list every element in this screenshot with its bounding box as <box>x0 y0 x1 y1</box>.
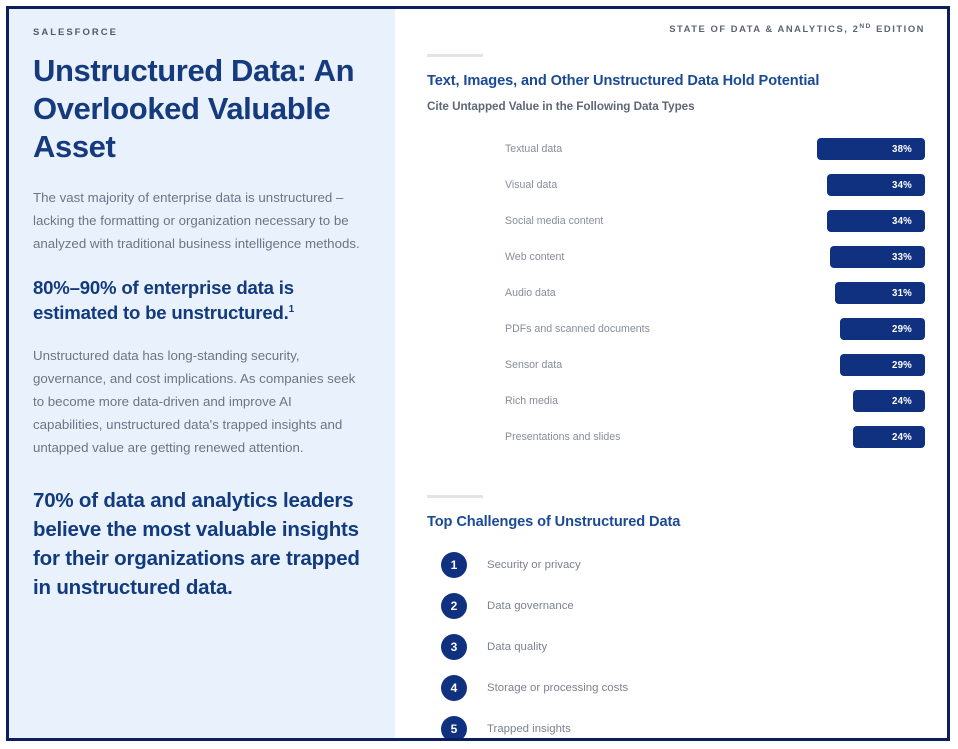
report-kicker-prefix: STATE OF DATA & ANALYTICS, 2 <box>669 23 859 34</box>
bar-value-label: 34% <box>892 216 912 227</box>
bar-track: 33% <box>669 246 925 268</box>
stat-callout-primary-text: 80%–90% of enterprise data is estimated … <box>33 277 294 323</box>
bar-chart: Textual data38%Visual data34%Social medi… <box>427 131 925 455</box>
challenge-rank-badge: 2 <box>441 593 467 619</box>
report-page: SALESFORCE Unstructured Data: An Overloo… <box>6 6 950 741</box>
chart-subtitle: Cite Untapped Value in the Following Dat… <box>427 100 925 113</box>
bar-value-label: 24% <box>892 396 912 407</box>
report-kicker-suffix: EDITION <box>872 23 925 34</box>
brand-wordmark: SALESFORCE <box>33 27 361 38</box>
bar-category-label: Web content <box>427 251 669 263</box>
challenge-rank-badge: 4 <box>441 675 467 701</box>
bar-row: Visual data34% <box>427 167 925 203</box>
bar-row: Web content33% <box>427 239 925 275</box>
bar: 38% <box>817 138 925 160</box>
challenge-label: Security or privacy <box>487 559 581 571</box>
challenge-label: Data quality <box>487 641 547 653</box>
bar-row: Sensor data29% <box>427 347 925 383</box>
bar-row: Rich media24% <box>427 383 925 419</box>
bar-track: 24% <box>669 390 925 412</box>
stat-callout-secondary: 70% of data and analytics leaders believ… <box>33 486 361 602</box>
challenges-divider-rule <box>427 495 483 498</box>
bar: 29% <box>840 354 925 376</box>
bar-value-label: 31% <box>892 288 912 299</box>
bar-row: Presentations and slides24% <box>427 419 925 455</box>
challenge-item: 1Security or privacy <box>427 544 925 585</box>
section-divider-rule <box>427 54 483 57</box>
bar-track: 29% <box>669 354 925 376</box>
bar-value-label: 38% <box>892 144 912 155</box>
footnote-marker: 1 <box>289 304 294 315</box>
challenge-label: Trapped insights <box>487 723 571 735</box>
bar-value-label: 29% <box>892 324 912 335</box>
bar-row: Social media content34% <box>427 203 925 239</box>
bar-row: PDFs and scanned documents29% <box>427 311 925 347</box>
bar-row: Audio data31% <box>427 275 925 311</box>
challenge-label: Storage or processing costs <box>487 682 628 694</box>
stat-callout-primary: 80%–90% of enterprise data is estimated … <box>33 276 361 325</box>
bar-category-label: Audio data <box>427 287 669 299</box>
bar-value-label: 29% <box>892 360 912 371</box>
bar-track: 34% <box>669 174 925 196</box>
challenge-item: 4Storage or processing costs <box>427 667 925 708</box>
challenge-label: Data governance <box>487 600 574 612</box>
challenge-rank-badge: 1 <box>441 552 467 578</box>
challenge-item: 5Trapped insights <box>427 708 925 741</box>
bar: 31% <box>835 282 925 304</box>
bar-row: Textual data38% <box>427 131 925 167</box>
right-panel: STATE OF DATA & ANALYTICS, 2ND EDITION T… <box>395 9 947 738</box>
challenge-rank-badge: 5 <box>441 716 467 742</box>
challenge-item: 2Data governance <box>427 585 925 626</box>
bar-category-label: Presentations and slides <box>427 431 669 443</box>
report-kicker: STATE OF DATA & ANALYTICS, 2ND EDITION <box>427 23 925 34</box>
bar-track: 29% <box>669 318 925 340</box>
challenges-section: Top Challenges of Unstructured Data 1Sec… <box>427 495 925 741</box>
bar-category-label: Rich media <box>427 395 669 407</box>
bar: 34% <box>827 174 925 196</box>
bar: 33% <box>830 246 925 268</box>
bar-category-label: PDFs and scanned documents <box>427 323 669 335</box>
bar: 34% <box>827 210 925 232</box>
chart-title: Text, Images, and Other Unstructured Dat… <box>427 73 925 89</box>
bar-track: 38% <box>669 138 925 160</box>
bar-value-label: 33% <box>892 252 912 263</box>
intro-paragraph: The vast majority of enterprise data is … <box>33 187 361 256</box>
bar-category-label: Textual data <box>427 143 669 155</box>
bar: 24% <box>853 390 925 412</box>
left-panel: SALESFORCE Unstructured Data: An Overloo… <box>9 9 395 738</box>
bar-category-label: Social media content <box>427 215 669 227</box>
bar-category-label: Sensor data <box>427 359 669 371</box>
challenge-item: 3Data quality <box>427 626 925 667</box>
challenges-list: 1Security or privacy2Data governance3Dat… <box>427 544 925 741</box>
bar-track: 34% <box>669 210 925 232</box>
bar-value-label: 24% <box>892 432 912 443</box>
bar-track: 24% <box>669 426 925 448</box>
secondary-paragraph: Unstructured data has long-standing secu… <box>33 345 361 459</box>
challenges-title: Top Challenges of Unstructured Data <box>427 514 925 530</box>
bar-value-label: 34% <box>892 180 912 191</box>
report-kicker-ordinal: ND <box>859 23 872 30</box>
bar: 24% <box>853 426 925 448</box>
page-title: Unstructured Data: An Overlooked Valuabl… <box>33 52 361 165</box>
bar-track: 31% <box>669 282 925 304</box>
bar: 29% <box>840 318 925 340</box>
challenge-rank-badge: 3 <box>441 634 467 660</box>
bar-category-label: Visual data <box>427 179 669 191</box>
